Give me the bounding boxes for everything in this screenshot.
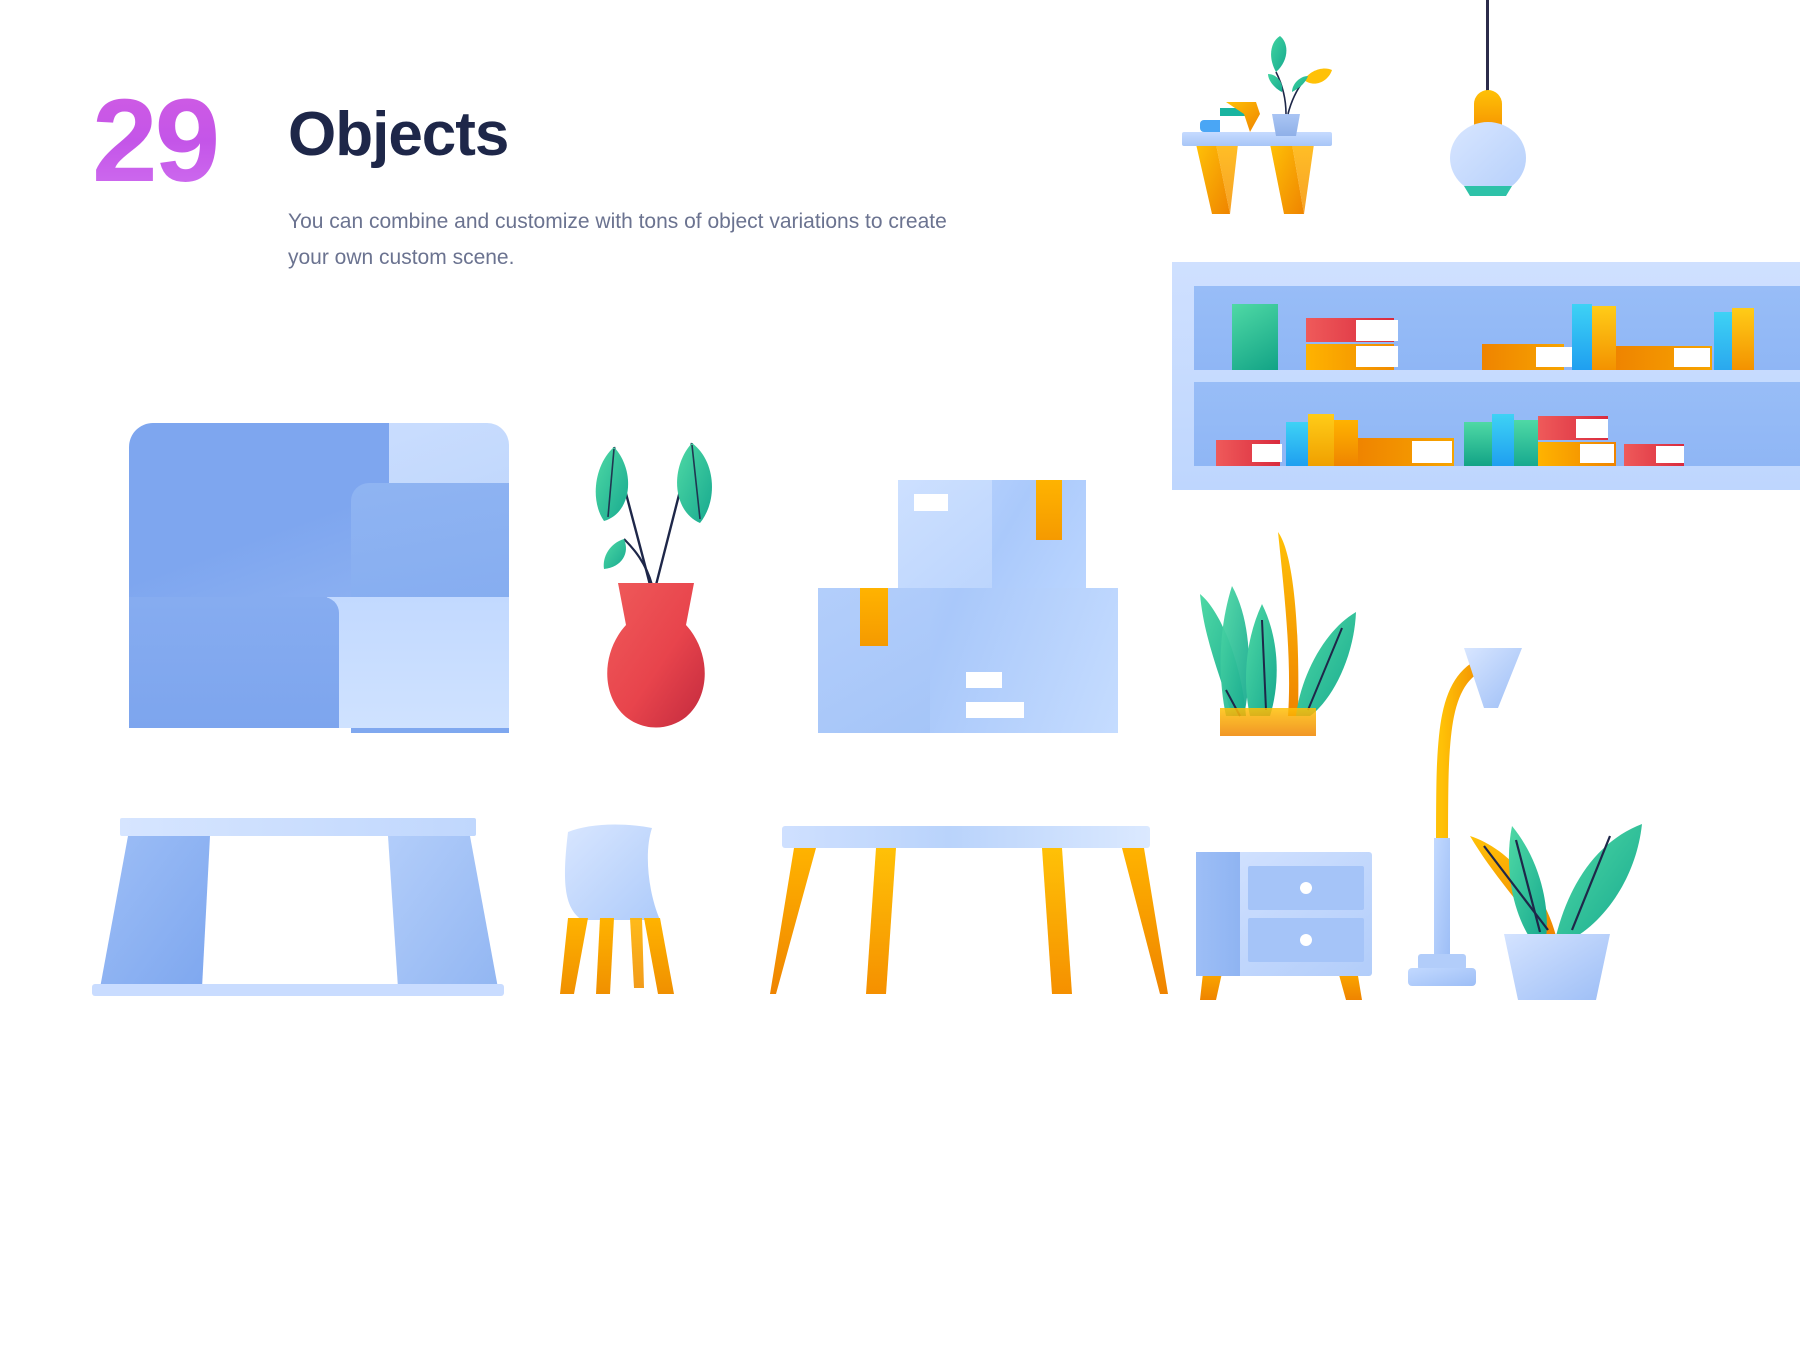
coffee-table-icon bbox=[92, 818, 504, 996]
vase-plant-object bbox=[588, 425, 723, 735]
pendant-lamp-object bbox=[1448, 0, 1528, 200]
box-lower-tape bbox=[860, 588, 888, 646]
coffee-table-object bbox=[92, 818, 504, 993]
bookshelf-object bbox=[1172, 262, 1800, 490]
right-plant-object bbox=[1460, 740, 1640, 996]
dining-table-object bbox=[770, 822, 1170, 994]
right-plant-icon bbox=[1460, 740, 1644, 1000]
page-subtitle: You can combine and customize with tons … bbox=[288, 204, 988, 276]
lamp-base bbox=[1464, 186, 1512, 196]
wall-shelf-icon bbox=[1182, 36, 1362, 214]
red-vase-icon bbox=[588, 425, 723, 737]
fern-plant-object bbox=[1196, 520, 1376, 735]
pendant-lamp-icon bbox=[1448, 0, 1528, 200]
box-lower-label-2 bbox=[966, 702, 1024, 718]
chair-object bbox=[548, 822, 718, 994]
box-upper-tape bbox=[1036, 480, 1062, 540]
fern-plant-icon bbox=[1196, 520, 1376, 736]
lamp-cord bbox=[1486, 0, 1489, 98]
lamp-globe bbox=[1450, 122, 1526, 194]
sofa-object bbox=[129, 423, 509, 728]
wall-shelf-object bbox=[1182, 36, 1362, 214]
cardboard-boxes-object bbox=[818, 480, 1118, 735]
chair-icon bbox=[548, 822, 718, 998]
nightstand-object bbox=[1196, 852, 1368, 997]
box-upper-label bbox=[914, 494, 948, 511]
dining-table-icon bbox=[770, 822, 1170, 998]
illustration-showcase-page: 29 Objects You can combine and customize… bbox=[0, 0, 1800, 1360]
bookshelf-shelf-bottom bbox=[1194, 382, 1800, 466]
sofa-seat-front bbox=[327, 597, 509, 728]
page-title: Objects bbox=[288, 104, 508, 166]
nightstand-icon bbox=[1196, 852, 1372, 1000]
bookshelf-shelf-top bbox=[1194, 286, 1800, 370]
object-count: 29 bbox=[92, 82, 217, 200]
box-lower-label-1 bbox=[966, 672, 1002, 688]
sofa-seat bbox=[129, 597, 339, 728]
